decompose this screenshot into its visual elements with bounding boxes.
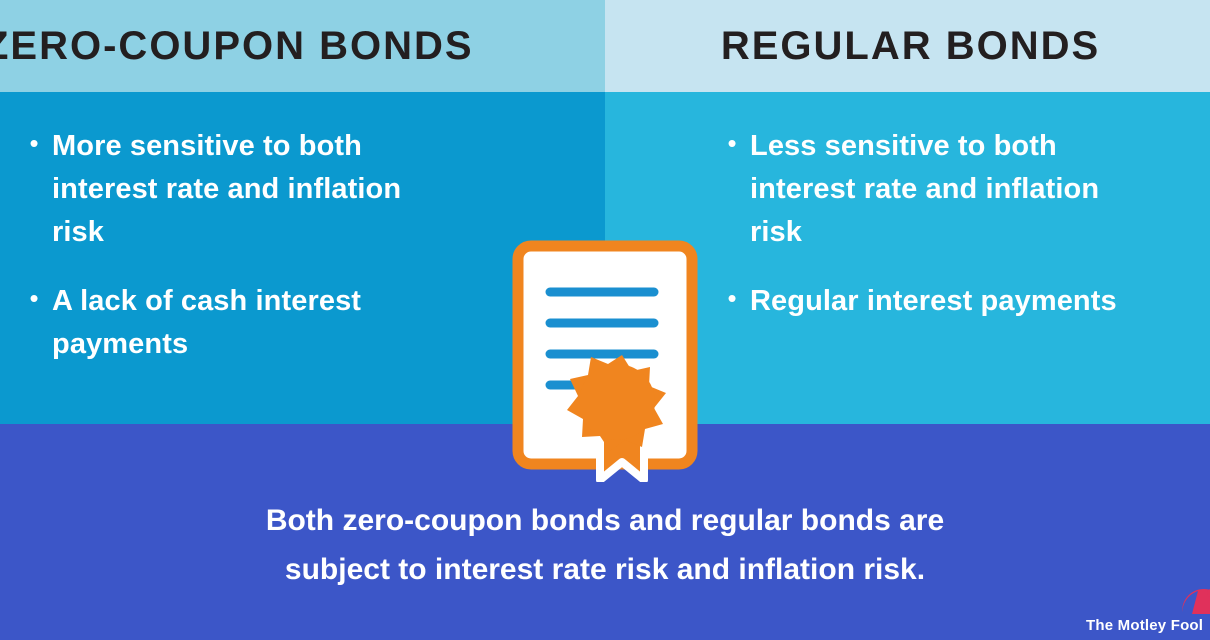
list-item: • Regular interest payments	[720, 280, 1210, 323]
bullet-text: More sensitive to both interest rate and…	[52, 125, 452, 254]
header-band: ZERO-COUPON BONDS REGULAR BONDS	[0, 0, 1210, 92]
bullet-text: A lack of cash interest payments	[52, 280, 452, 366]
summary-banner-text: Both zero-coupon bonds and regular bonds…	[0, 496, 1210, 594]
header-title-zero-coupon: ZERO-COUPON BONDS	[0, 26, 474, 66]
certificate-icon	[512, 240, 698, 482]
bullet-point-icon: •	[22, 125, 46, 161]
bullet-point-icon: •	[22, 280, 46, 316]
header-title-regular: REGULAR BONDS	[721, 26, 1100, 66]
jester-cap-icon	[1180, 588, 1210, 614]
certificate-illustration	[512, 240, 698, 482]
bullet-text: Regular interest payments	[750, 280, 1117, 323]
motley-fool-logo: The Motley Fool	[1086, 588, 1210, 636]
header-cell-regular: REGULAR BONDS	[605, 0, 1210, 92]
infographic-root: ZERO-COUPON BONDS REGULAR BONDS • More s…	[0, 0, 1210, 640]
bullet-text: Less sensitive to both interest rate and…	[750, 125, 1150, 254]
header-cell-zero-coupon: ZERO-COUPON BONDS	[0, 0, 605, 92]
list-item: • More sensitive to both interest rate a…	[22, 125, 605, 254]
bullet-point-icon: •	[720, 125, 744, 161]
logo-text: The Motley Fool	[1086, 617, 1203, 634]
list-item: • Less sensitive to both interest rate a…	[720, 125, 1210, 254]
bullet-point-icon: •	[720, 280, 744, 316]
